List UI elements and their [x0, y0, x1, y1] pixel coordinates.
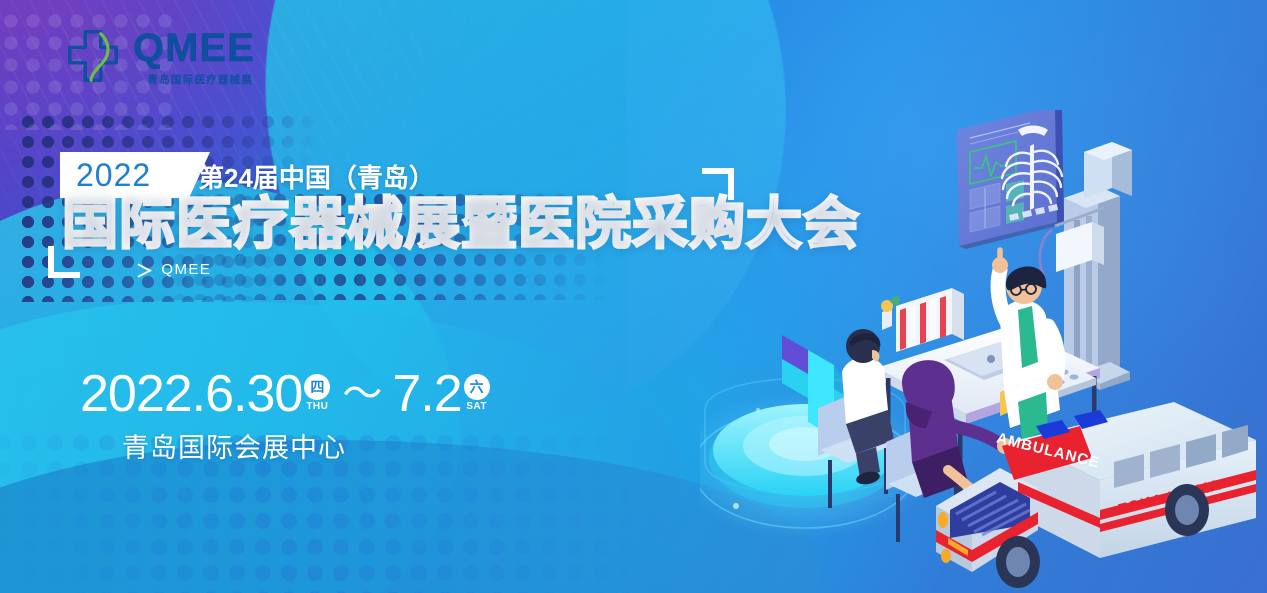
book-stack — [896, 288, 964, 352]
date-block: 2022.6.30 四 THU ～ 7.2 六 SAT 青岛国际会展中心 — [80, 368, 492, 465]
weekday-cn-start: 四 — [304, 374, 330, 400]
date-start: 2022.6.30 — [80, 368, 302, 420]
logo-subtitle: 青岛国际医疗器械展 — [148, 72, 254, 87]
year-label: 2022 — [76, 157, 151, 194]
date-separator: ～ — [342, 374, 382, 414]
weekday-abbr-start: THU — [306, 401, 328, 412]
chevron-right-icon: ＞ — [136, 257, 154, 282]
headline-block: 2022 第24届中国（青岛） 国际医疗器械展暨医院采购大会 ＞ QMEE — [48, 152, 728, 284]
weekday-badge-start: 四 THU — [304, 374, 330, 412]
isometric-hospital-illustration: AMBULANCE AMBULANCE — [700, 110, 1267, 593]
headline-subtitle: 第24届中国（青岛） — [198, 158, 435, 195]
date-end: 7.2 — [392, 368, 461, 420]
date-range: 2022.6.30 四 THU ～ 7.2 六 SAT — [80, 368, 492, 420]
medical-cross-icon — [62, 26, 124, 88]
weekday-badge-end: 六 SAT — [464, 374, 490, 412]
xray-display-monitor — [957, 110, 1064, 252]
qmee-tag-label: QMEE — [161, 261, 211, 278]
venue-label: 青岛国际会展中心 — [122, 426, 492, 465]
weekday-cn-end: 六 — [464, 374, 490, 400]
logo-wordmark: QMEE — [133, 28, 255, 68]
qmee-tag: ＞ QMEE — [136, 257, 211, 282]
event-banner: QMEE 青岛国际医疗器械展 2022 第24届中国（青岛） 国际医疗器械展暨医… — [0, 0, 1267, 593]
weekday-abbr-end: SAT — [466, 401, 487, 412]
qmee-logo[interactable]: QMEE 青岛国际医疗器械展 — [62, 26, 255, 88]
